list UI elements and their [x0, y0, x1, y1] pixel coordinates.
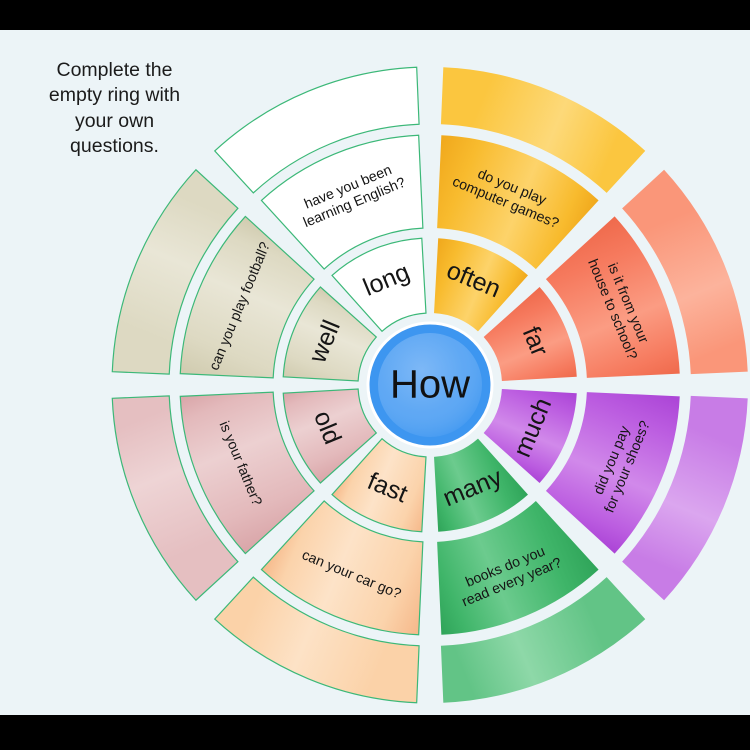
screenshot-stage: Complete the empty ring with your own qu… — [0, 0, 750, 750]
letterbox-bottom — [0, 715, 750, 750]
wheel-hub[interactable]: How — [368, 323, 492, 447]
diagram-canvas: Complete the empty ring with your own qu… — [0, 30, 750, 715]
question-wheel: oftendo you playcomputer games?faris it … — [0, 30, 750, 715]
letterbox-top — [0, 0, 750, 30]
hub-label: How — [390, 363, 470, 407]
